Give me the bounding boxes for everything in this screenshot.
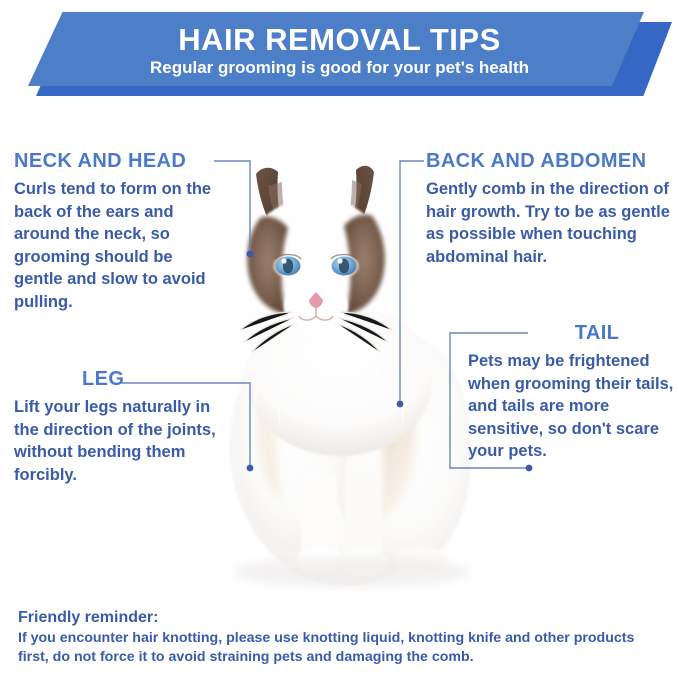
- callout-body-leg: Lift your legs naturally in the directio…: [14, 396, 226, 486]
- callout-body-back-and-abdomen: Gently comb in the direction of hair gro…: [426, 178, 670, 268]
- callout-leg: LEG Lift your legs naturally in the dire…: [14, 368, 226, 486]
- callout-title-tail: TAIL: [530, 322, 664, 344]
- callout-neck-and-head: NECK AND HEAD Curls tend to form on the …: [14, 150, 224, 314]
- banner-text-group: HAIR REMOVAL TIPS Regular grooming is go…: [0, 12, 679, 90]
- callout-back-and-abdomen: BACK AND ABDOMEN Gently comb in the dire…: [426, 150, 670, 268]
- page-title: HAIR REMOVAL TIPS: [178, 24, 501, 57]
- footer-note: Friendly reminder: If you encounter hair…: [18, 608, 664, 667]
- callout-tail: TAIL Pets may be frightened when groomin…: [468, 322, 676, 463]
- footer-heading: Friendly reminder:: [18, 608, 664, 628]
- header-banner: HAIR REMOVAL TIPS Regular grooming is go…: [0, 0, 679, 104]
- callout-title-leg: LEG: [82, 368, 226, 390]
- footer-body: If you encounter hair knotting, please u…: [18, 629, 664, 667]
- callout-body-tail: Pets may be frightened when grooming the…: [468, 350, 676, 463]
- infographic-page: HAIR REMOVAL TIPS Regular grooming is go…: [0, 0, 679, 679]
- callout-body-neck-and-head: Curls tend to form on the back of the ea…: [14, 178, 224, 314]
- callout-title-back-and-abdomen: BACK AND ABDOMEN: [426, 150, 670, 172]
- dot-tail: [526, 465, 533, 472]
- page-subtitle: Regular grooming is good for your pet's …: [150, 59, 529, 78]
- callout-title-neck-and-head: NECK AND HEAD: [14, 150, 224, 172]
